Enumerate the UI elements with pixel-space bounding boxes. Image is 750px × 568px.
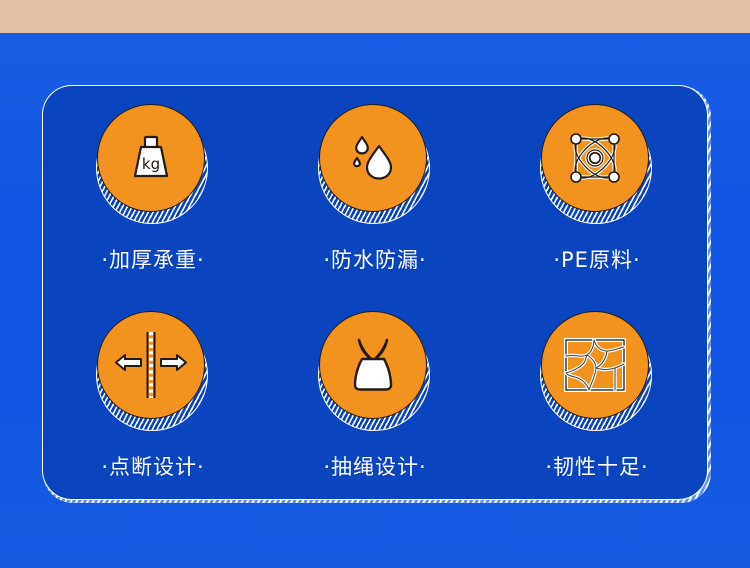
feature-label: ·PE原料· <box>553 244 640 274</box>
water-drop-icon <box>319 104 427 212</box>
feature-item-waterproof[interactable]: ·防水防漏· <box>319 104 431 274</box>
weight-kg-icon: kg <box>97 104 205 212</box>
feature-label: ·防水防漏· <box>323 244 426 274</box>
top-beige-band <box>0 0 750 33</box>
feature-label: ·韧性十足· <box>545 451 648 481</box>
badge-wrapper: kg <box>97 104 209 222</box>
mesh-toughness-icon <box>541 311 649 419</box>
feature-label: ·点断设计· <box>101 451 204 481</box>
badge-wrapper <box>541 311 653 429</box>
feature-item-toughness[interactable]: ·韧性十足· <box>541 311 653 481</box>
badge-wrapper <box>97 311 209 429</box>
feature-item-pe-material[interactable]: ·PE原料· <box>541 104 653 274</box>
feature-label: ·抽绳设计· <box>323 451 426 481</box>
feature-label: ·加厚承重· <box>101 244 204 274</box>
badge-wrapper <box>541 104 653 222</box>
weight-unit-label: kg <box>142 155 160 173</box>
feature-item-drawstring[interactable]: ·抽绳设计· <box>319 311 431 481</box>
drawstring-bag-icon <box>319 311 427 419</box>
feature-item-tear-design[interactable]: ·点断设计· <box>97 311 209 481</box>
badge-wrapper <box>319 311 431 429</box>
feature-grid: kg ·加厚承重· <box>42 85 708 500</box>
tear-line-arrows-icon <box>97 311 205 419</box>
feature-item-load-bearing[interactable]: kg ·加厚承重· <box>97 104 209 274</box>
badge-wrapper <box>319 104 431 222</box>
product-feature-banner: 明超商城 kg ·加厚承重· <box>0 0 750 568</box>
molecule-atom-icon <box>541 104 649 212</box>
